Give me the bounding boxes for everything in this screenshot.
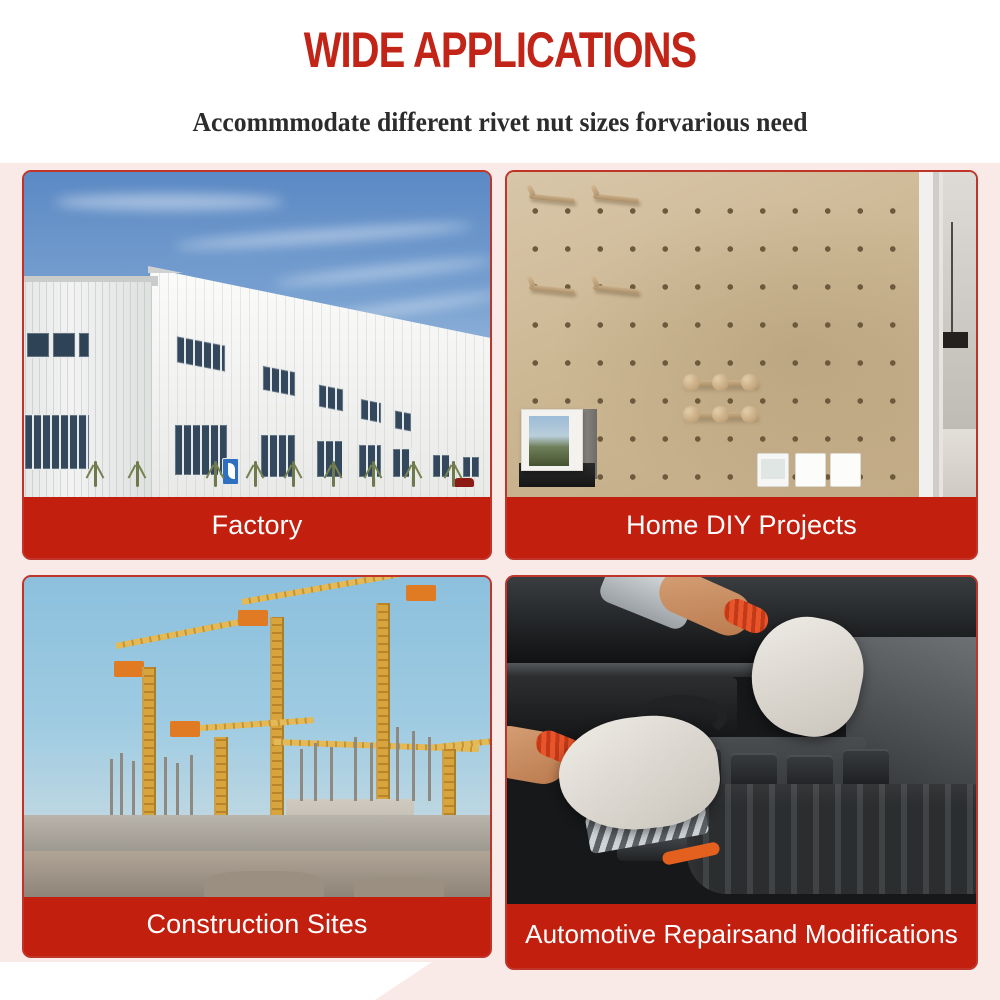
card-caption-automotive: Automotive Repairs and Modifications: [507, 904, 976, 968]
caption-line-1: Automotive Repairs: [525, 920, 754, 948]
wall-thermostat[interactable]: [757, 453, 789, 487]
window: [318, 383, 344, 412]
book-cover-image: [529, 416, 569, 466]
blue-sign: [222, 458, 239, 485]
construction-photo: [24, 577, 490, 897]
dirt-mound: [354, 877, 444, 897]
peg-knob-rail: [683, 412, 757, 418]
crane-operator-cab: [406, 585, 436, 601]
application-card-home-diy[interactable]: Home DIY Projects: [505, 170, 978, 560]
doorway: [919, 172, 976, 497]
rebar: [132, 761, 135, 817]
dirt-mound: [204, 871, 324, 897]
rebar: [354, 737, 357, 801]
crane-operator-cab: [114, 661, 144, 677]
wall-shelf: [519, 409, 595, 481]
shrub: [452, 461, 455, 487]
applications-grid: Factory: [0, 163, 1000, 1000]
card-caption-home-diy: Home DIY Projects: [507, 497, 976, 558]
peg-knob: [741, 374, 758, 391]
window: [26, 332, 50, 358]
window: [392, 448, 412, 478]
window: [462, 456, 480, 478]
peg-knob: [683, 374, 700, 391]
intake-manifold: [687, 784, 976, 894]
rebar: [190, 755, 193, 817]
shrub: [292, 461, 295, 487]
interior-dark-band: [943, 332, 968, 348]
rebar: [396, 727, 399, 801]
peg-knob: [741, 406, 758, 423]
window: [24, 414, 90, 470]
window: [394, 409, 412, 432]
rebar: [300, 749, 303, 801]
rebar: [120, 753, 123, 817]
window: [52, 332, 76, 358]
card-caption-factory: Factory: [24, 497, 490, 558]
shrub: [412, 461, 415, 487]
peg-knob: [712, 406, 729, 423]
cloud: [54, 194, 284, 210]
card-caption-construction: Construction Sites: [24, 897, 490, 956]
interior-cabinet: [943, 429, 976, 497]
peg-knob: [683, 406, 700, 423]
peg-knob: [712, 374, 729, 391]
thermostat-screen: [761, 459, 785, 479]
rebar: [412, 731, 415, 801]
rebar: [370, 743, 373, 801]
window: [360, 398, 382, 424]
shrub: [372, 461, 375, 487]
factory-photo: [24, 172, 490, 497]
light-switch[interactable]: [830, 453, 861, 487]
shrub: [254, 461, 257, 487]
rebar: [330, 747, 333, 801]
window: [78, 332, 90, 358]
application-card-automotive[interactable]: Automotive Repairs and Modifications: [505, 575, 978, 970]
home-diy-photo: [507, 172, 976, 497]
page-subtitle: Accommmodate different rivet nut sizes f…: [25, 107, 975, 138]
rebar: [110, 759, 113, 817]
parked-car: [454, 478, 474, 487]
rebar: [176, 763, 179, 817]
automotive-photo: [507, 577, 976, 904]
crane-operator-cab: [238, 610, 268, 626]
application-card-factory[interactable]: Factory: [22, 170, 492, 560]
rebar: [428, 737, 431, 801]
shrub: [214, 461, 217, 487]
rebar: [164, 757, 167, 817]
window: [260, 434, 296, 478]
page-title: WIDE APPLICATIONS: [100, 21, 900, 79]
framed-book: [521, 409, 583, 471]
peg-knob-rail: [683, 380, 757, 386]
light-switch[interactable]: [795, 453, 826, 487]
caption-line-2: and Modifications: [754, 920, 958, 948]
page-header: WIDE APPLICATIONS Accommmodate different…: [0, 0, 1000, 163]
shrub: [332, 461, 335, 487]
application-card-construction[interactable]: Construction Sites: [22, 575, 492, 958]
rebar: [314, 743, 317, 801]
shrub: [94, 461, 97, 487]
crane-operator-cab: [170, 721, 200, 737]
shrub: [136, 461, 139, 487]
